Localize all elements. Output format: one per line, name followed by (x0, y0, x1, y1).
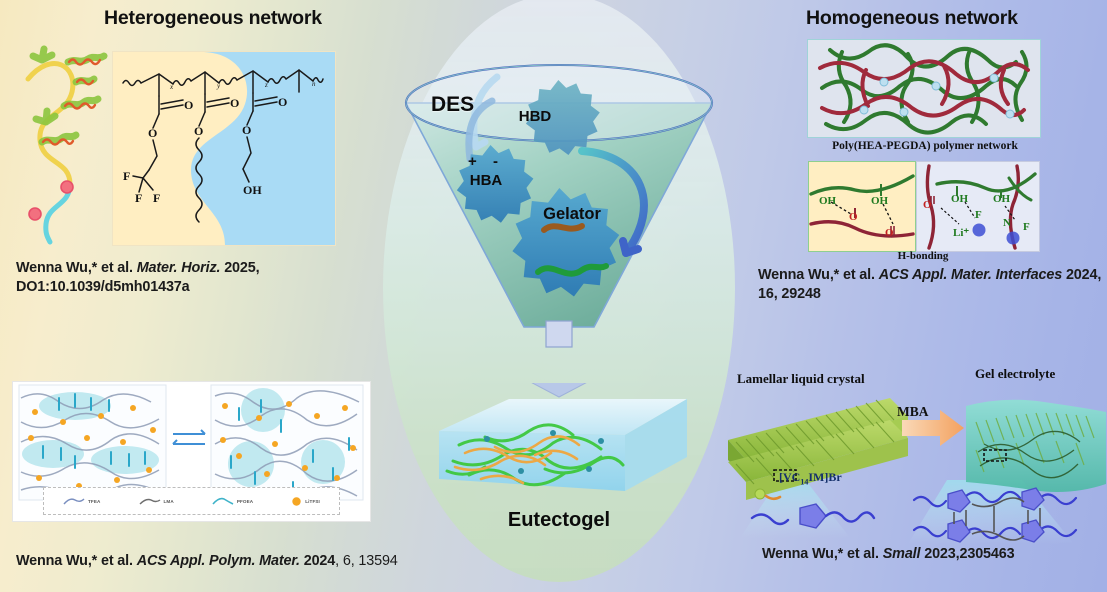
monomer-label-base: [VC (779, 470, 800, 484)
legend-item-lma: LMA (139, 497, 174, 506)
monomer-label-tail: IM]Br (808, 470, 841, 484)
citation-prefix: Wenna Wu,* et al. (16, 260, 137, 276)
heterogeneous-structure-panel: OOO OOO FFF OH xyzn (112, 51, 336, 246)
citation-rest: , 6, 13594 (335, 553, 398, 569)
svg-text:OH: OH (993, 193, 1011, 205)
homogeneous-title: Homogeneous network (806, 7, 1018, 30)
citation-prefix: Wenna Wu,* et al. (762, 546, 883, 562)
legend-item-litfsi: LiTFSI (291, 496, 320, 507)
citation-acs-ami: Wenna Wu,* et al. ACS Appl. Mater. Inter… (758, 266, 1107, 304)
svg-text:F: F (123, 169, 130, 183)
svg-text:OH: OH (951, 193, 969, 205)
citation-prefix: Wenna Wu,* et al. (758, 267, 879, 283)
svg-text:OH: OH (819, 195, 837, 207)
citation-doi: DO1:10.1039/d5mh01437a (16, 279, 190, 295)
legend-swatch-tfea (63, 497, 85, 506)
svg-text:O: O (278, 95, 287, 109)
polymer-network-caption: Poly(HEA-PEGDA) polymer network (760, 140, 1090, 152)
citation-journal: Mater. Horiz. (137, 260, 221, 276)
citation-acs-polym-mater: Wenna Wu,* et al. ACS Appl. Polym. Mater… (16, 552, 436, 571)
legend-label-litfsi: LiTFSI (305, 499, 320, 504)
svg-text:n: n (312, 80, 316, 88)
legend-swatch-pfoea (212, 497, 234, 506)
svg-text:N: N (1003, 217, 1011, 229)
svg-text:OH: OH (871, 195, 889, 207)
gel-electrolyte-label: Gel electrolyte (975, 366, 1055, 382)
citation-prefix: Wenna Wu,* et al. (16, 553, 137, 569)
citation-journal: Small (883, 546, 921, 562)
mba-arrow-label: MBA (897, 404, 929, 420)
svg-text:z: z (264, 81, 268, 89)
heterogeneous-title: Heterogeneous network (104, 7, 322, 30)
homogeneous-network-panel (807, 39, 1041, 138)
legend-label-pfoea: PFOEA (237, 499, 253, 504)
svg-text:O: O (194, 124, 203, 138)
hba-charge-label: + - (456, 153, 516, 170)
citation-year: 2025, (224, 260, 259, 276)
legend-item-pfoea: PFOEA (212, 497, 253, 506)
des-label: DES (431, 93, 474, 117)
hbd-label: HBD (505, 108, 565, 125)
svg-text:O: O (885, 227, 894, 239)
monomer-label: [VC14IM]Br (779, 470, 842, 486)
citation-journal: ACS Appl. Mater. Interfaces (879, 267, 1062, 283)
hbonding-panel-right: O OH OH Li⁺ F N F (916, 161, 1040, 252)
citation-small: Wenna Wu,* et al. Small 2023,2305463 (762, 545, 1102, 564)
polymer-network-drawing (808, 40, 1040, 137)
svg-text:O: O (184, 98, 193, 112)
citation-journal: ACS Appl. Polym. Mater. (137, 553, 300, 569)
legend-label-tfea: TFEA (88, 499, 100, 504)
citation-year: 2024, (1066, 267, 1101, 283)
gelator-label: Gelator (527, 205, 617, 224)
citation-year: 2024 (304, 553, 335, 569)
lamellar-liquid-crystal-label: Lamellar liquid crystal (737, 371, 865, 387)
hbonding-left-drawing: OH OH O O (809, 162, 915, 251)
hbonding-caption: H-bonding (808, 250, 1038, 262)
legend-label-lma: LMA (164, 499, 174, 504)
legend-item-tfea: TFEA (63, 497, 100, 506)
polymer-chain-illustration (18, 44, 114, 246)
gel-legend: TFEA LMA PFOEA LiTFSI (43, 487, 340, 515)
svg-text:OH: OH (243, 183, 262, 197)
hbonding-panel-left: OH OH O O (808, 161, 916, 252)
svg-text:O: O (230, 96, 239, 110)
svg-text:y: y (216, 82, 221, 90)
figure-canvas: Heterogeneous network Homogeneous networ… (0, 0, 1107, 592)
eutectogel-slab (425, 383, 693, 518)
legend-swatch-lma (139, 497, 161, 506)
hba-label: HBA (456, 172, 516, 189)
svg-text:F: F (153, 191, 160, 205)
hbonding-right-drawing: O OH OH Li⁺ F N F (917, 162, 1039, 251)
svg-text:F: F (975, 209, 982, 221)
citation-volume-page: 16, 29248 (758, 286, 821, 302)
svg-text:O: O (148, 126, 157, 140)
polymer-structure-drawing: OOO OOO FFF OH xyzn (113, 52, 335, 245)
svg-text:F: F (1023, 221, 1030, 233)
svg-text:F: F (135, 191, 142, 205)
svg-text:O: O (923, 199, 932, 211)
legend-swatch-litfsi (291, 496, 302, 507)
svg-text:Li⁺: Li⁺ (953, 227, 969, 239)
svg-text:O: O (849, 211, 858, 223)
eutectogel-label: Eutectogel (398, 509, 720, 532)
citation-rest: 2023,2305463 (920, 546, 1014, 562)
svg-text:O: O (242, 123, 251, 137)
citation-mater-horiz: Wenna Wu,* et al. Mater. Horiz. 2025, DO… (16, 259, 346, 297)
